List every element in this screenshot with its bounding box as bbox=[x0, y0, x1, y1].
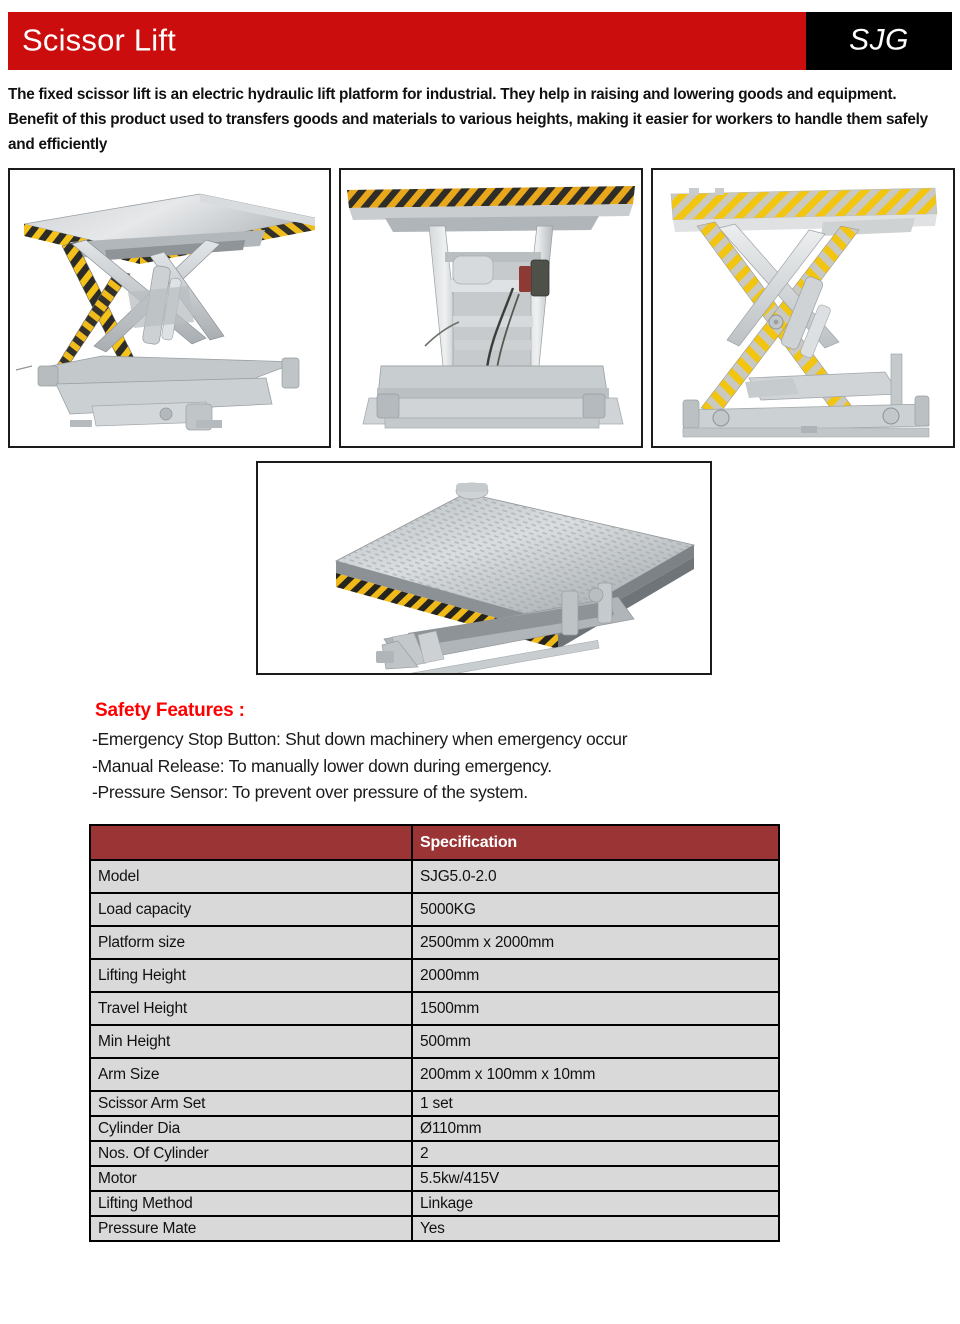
table-row: Motor5.5kw/415V bbox=[90, 1166, 779, 1191]
safety-features-heading: Safety Features : bbox=[95, 700, 245, 722]
table-row: Scissor Arm Set1 set bbox=[90, 1091, 779, 1116]
scissor-lift-angled-illustration bbox=[10, 170, 329, 446]
spec-label-cell: Lifting Height bbox=[90, 959, 412, 992]
spec-value-cell: 5000KG bbox=[412, 893, 779, 926]
scissor-lift-lowered-illustration bbox=[258, 463, 710, 673]
table-row: Lifting Height2000mm bbox=[90, 959, 779, 992]
product-photo-scissor-lift-raised-angled-view bbox=[8, 168, 331, 448]
intro-paragraph: The fixed scissor lift is an electric hy… bbox=[8, 82, 938, 157]
specification-table-body: ModelSJG5.0-2.0Load capacity5000KGPlatfo… bbox=[90, 860, 779, 1241]
safety-item-pressure-sensor: -Pressure Sensor: To prevent over pressu… bbox=[92, 779, 852, 806]
table-row: Travel Height1500mm bbox=[90, 992, 779, 1025]
spec-label-cell: Lifting Method bbox=[90, 1191, 412, 1216]
table-row: Min Height500mm bbox=[90, 1025, 779, 1058]
spec-value-cell: 1500mm bbox=[412, 992, 779, 1025]
scissor-lift-side-illustration bbox=[653, 170, 953, 446]
spec-value-cell: Yes bbox=[412, 1216, 779, 1241]
table-row: Nos. Of Cylinder2 bbox=[90, 1141, 779, 1166]
spec-value-cell: Linkage bbox=[412, 1191, 779, 1216]
table-row: Platform size2500mm x 2000mm bbox=[90, 926, 779, 959]
table-row: ModelSJG5.0-2.0 bbox=[90, 860, 779, 893]
table-row: Arm Size200mm x 100mm x 10mm bbox=[90, 1058, 779, 1091]
spec-value-cell: 500mm bbox=[412, 1025, 779, 1058]
spec-label-cell: Nos. Of Cylinder bbox=[90, 1141, 412, 1166]
spec-value-cell: 2 bbox=[412, 1141, 779, 1166]
table-header-blank bbox=[90, 825, 412, 860]
safety-item-manual-release: -Manual Release: To manually lower down … bbox=[92, 753, 852, 780]
spec-label-cell: Pressure Mate bbox=[90, 1216, 412, 1241]
page-title: Scissor Lift bbox=[22, 22, 176, 58]
product-photo-scissor-lift-lowered-platform-view bbox=[256, 461, 712, 675]
spec-label-cell: Platform size bbox=[90, 926, 412, 959]
table-row: Pressure MateYes bbox=[90, 1216, 779, 1241]
specification-table: Specification ModelSJG5.0-2.0Load capaci… bbox=[89, 824, 780, 1242]
spec-value-cell: SJG5.0-2.0 bbox=[412, 860, 779, 893]
spec-value-cell: Ø110mm bbox=[412, 1116, 779, 1141]
table-row: Lifting MethodLinkage bbox=[90, 1191, 779, 1216]
table-row: Load capacity5000KG bbox=[90, 893, 779, 926]
table-header-specification: Specification bbox=[412, 825, 779, 860]
safety-features-list: -Emergency Stop Button: Shut down machin… bbox=[92, 726, 852, 806]
spec-label-cell: Min Height bbox=[90, 1025, 412, 1058]
table-header-row: Specification bbox=[90, 825, 779, 860]
spec-label-cell: Arm Size bbox=[90, 1058, 412, 1091]
brand-logo-text: SJG bbox=[806, 23, 952, 57]
spec-value-cell: 2000mm bbox=[412, 959, 779, 992]
safety-item-emergency-stop: -Emergency Stop Button: Shut down machin… bbox=[92, 726, 852, 753]
spec-label-cell: Scissor Arm Set bbox=[90, 1091, 412, 1116]
spec-value-cell: 200mm x 100mm x 10mm bbox=[412, 1058, 779, 1091]
brand-logo-box: SJG bbox=[806, 12, 952, 70]
spec-value-cell: 5.5kw/415V bbox=[412, 1166, 779, 1191]
table-row: Cylinder DiaØ110mm bbox=[90, 1116, 779, 1141]
scissor-lift-front-illustration bbox=[341, 170, 641, 446]
spec-label-cell: Travel Height bbox=[90, 992, 412, 1025]
spec-value-cell: 2500mm x 2000mm bbox=[412, 926, 779, 959]
spec-value-cell: 1 set bbox=[412, 1091, 779, 1116]
spec-label-cell: Cylinder Dia bbox=[90, 1116, 412, 1141]
spec-label-cell: Model bbox=[90, 860, 412, 893]
spec-label-cell: Motor bbox=[90, 1166, 412, 1191]
spec-label-cell: Load capacity bbox=[90, 893, 412, 926]
product-photo-scissor-lift-side-profile-raised bbox=[651, 168, 955, 448]
page-header-bar: Scissor Lift SJG bbox=[8, 12, 952, 70]
product-photo-scissor-lift-front-view-raised bbox=[339, 168, 643, 448]
